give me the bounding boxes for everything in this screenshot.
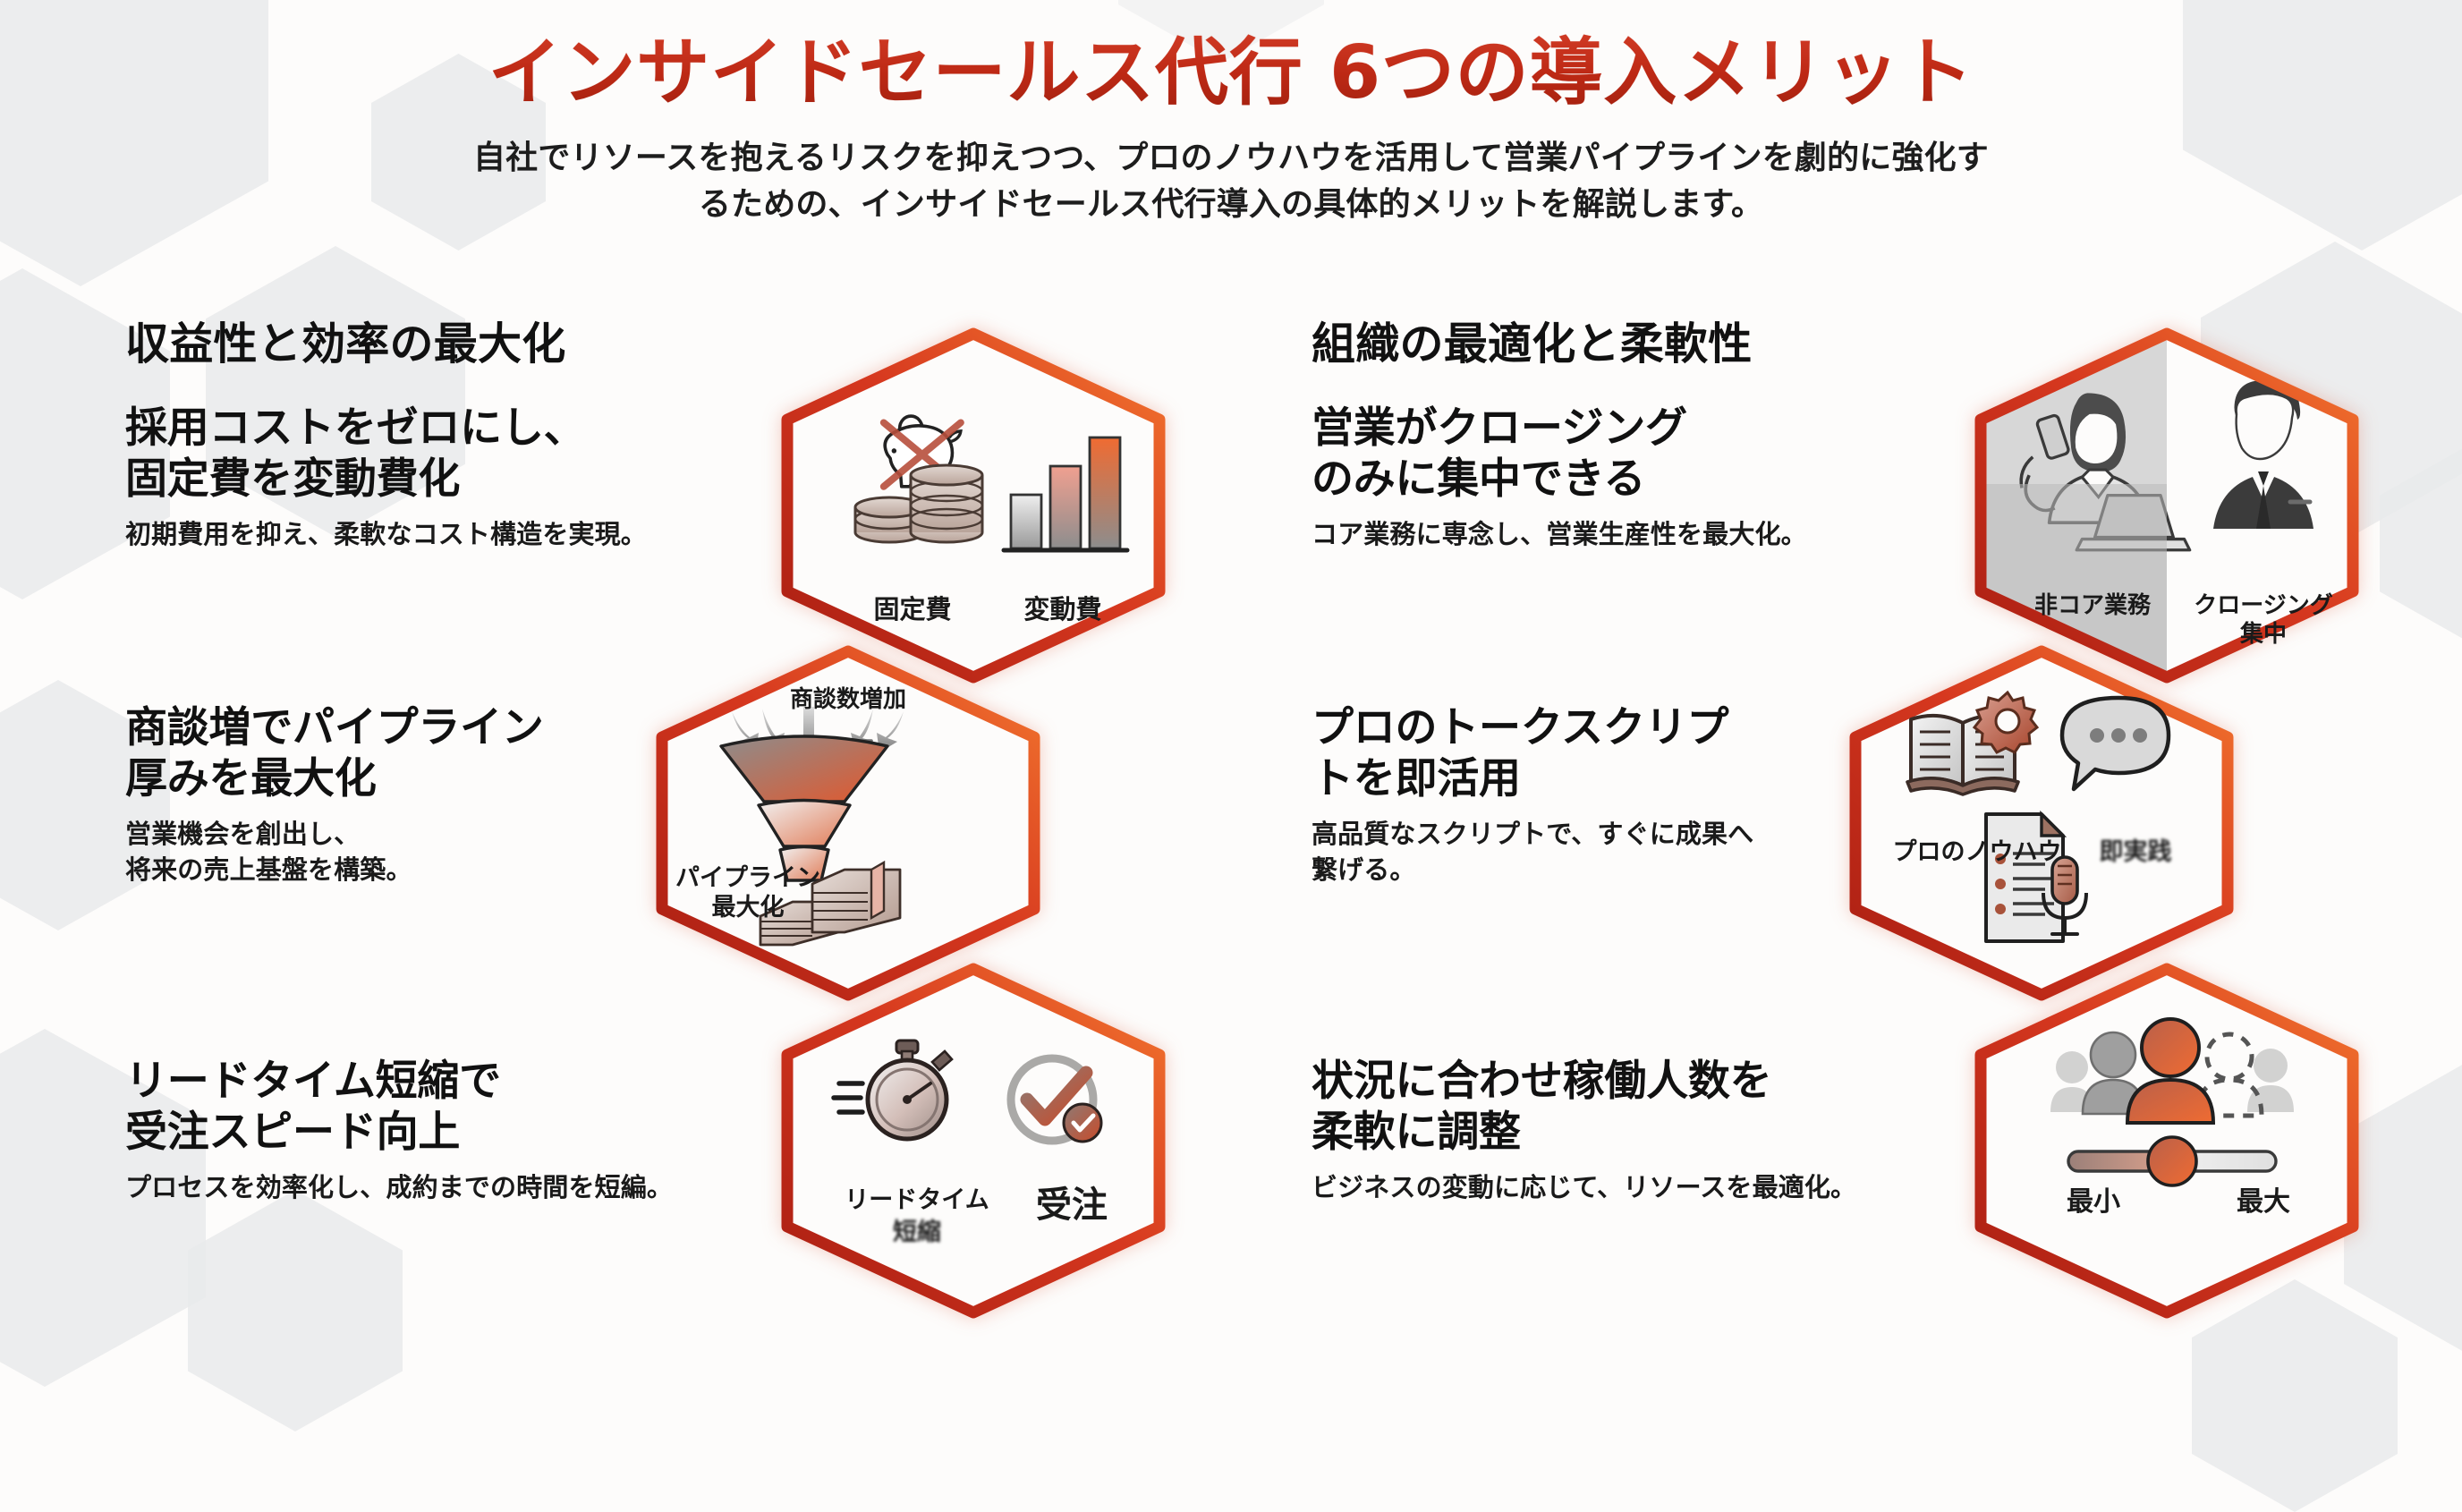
right-column: 組織の最適化と柔軟性 営業がクロージング のみに集中できる コア業務に専念し、営…: [1231, 309, 2462, 1364]
roles-hexagon[interactable]: 非コア業務 クロージング 集中: [1970, 327, 2364, 684]
left-block-2-title-line-1: 商談増でパイプライン: [125, 702, 743, 753]
leadtime-hexagon[interactable]: リードタイム 短縮 受注: [777, 962, 1170, 1320]
left-block-1-desc-line-1: 初期費用を抑え、柔軟なコスト構造を実現。: [125, 517, 716, 551]
right-block-3-title-line-1: 状況に合わせ稼働人数を: [1312, 1056, 1956, 1107]
script-hexagon-label-knowhow: プロのノウハウ: [1870, 839, 2084, 866]
page-title: インサイドセールス代行 6つの導入メリット: [0, 34, 2462, 114]
right-block-3-desc-line-1: ビジネスの変動に応じて、リソースを最適化。: [1312, 1170, 1956, 1204]
script-hexagon[interactable]: プロのノウハウ 即実践: [1845, 644, 2238, 1002]
pipeline-hexagon-label-mid2: 最大化: [667, 895, 828, 922]
pipeline-hexagon[interactable]: 商談数増加 パイプライン 最大化: [651, 644, 1045, 1002]
left-block-2-desc-line-2: 将来の売上基盤を構築。: [125, 853, 743, 887]
left-block-1: 採用コストをゼロにし、 固定費を変動費化 初期費用を抑え、柔軟なコスト構造を実現…: [125, 403, 716, 551]
right-block-2-desc-line-1: 高品質なスクリプトで、すぐに成果へ: [1312, 817, 1884, 851]
cost-hexagon[interactable]: 固定費 変動費: [777, 327, 1170, 684]
right-block-2-desc-line-2: 繋げる。: [1312, 853, 1884, 887]
right-block-3-title-line-2: 柔軟に調整: [1312, 1107, 1956, 1158]
script-hexagon-label-practice: 即実践: [2068, 839, 2203, 866]
left-block-3: リードタイム短縮で 受注スピード向上 プロセスを効率化し、成約までの時間を短編。: [125, 1056, 751, 1204]
left-block-1-title-line-2: 固定費を変動費化: [125, 454, 716, 505]
infographic-page: インサイドセールス代行 6つの導入メリット 自社でリソースを抱えるリスクを抑えつ…: [0, 0, 2462, 1374]
right-block-2-title-line-2: トを即活用: [1312, 753, 1884, 804]
scaling-hexagon[interactable]: 最小 最大: [1970, 962, 2364, 1320]
page-subtitle: 自社でリソースを抱えるリスクを抑えつつ、プロのノウハウを活用して営業パイプライン…: [386, 135, 2076, 228]
cost-hexagon-label-variable: 変動費: [991, 595, 1134, 624]
subtitle-line-2: るための、インサイドセールス代行導入の具体的メリットを解説します。: [386, 182, 2076, 228]
right-section-heading: 組織の最適化と柔軟性: [1312, 309, 1752, 372]
content-columns: 収益性と効率の最大化 採用コストをゼロにし、 固定費を変動費化 初期費用を抑え、…: [0, 309, 2462, 1364]
right-block-3: 状況に合わせ稼働人数を 柔軟に調整 ビジネスの変動に応じて、リソースを最適化。: [1312, 1056, 1956, 1204]
left-column: 収益性と効率の最大化 採用コストをゼロにし、 固定費を変動費化 初期費用を抑え、…: [0, 309, 1231, 1364]
left-block-3-title-line-2: 受注スピード向上: [125, 1107, 751, 1158]
cost-hexagon-label-fixed: 固定費: [841, 595, 984, 624]
leadtime-hexagon-label-order: 受注: [1000, 1185, 1143, 1226]
leadtime-hexagon-label-1: リードタイム: [814, 1187, 1020, 1214]
pipeline-hexagon-label-top: 商談数増加: [759, 687, 938, 713]
left-block-3-title-line-1: リードタイム短縮で: [125, 1056, 751, 1107]
roles-hexagon-label-noncore: 非コア業務: [2008, 593, 2178, 619]
leadtime-hexagon-label-2: 短縮: [814, 1219, 1020, 1246]
pipeline-hexagon-label-mid: パイプライン: [667, 865, 828, 892]
left-block-3-desc-line-1: プロセスを効率化し、成約までの時間を短編。: [125, 1170, 751, 1204]
scaling-hexagon-label-min: 最小: [2040, 1187, 2147, 1218]
left-block-2: 商談増でパイプライン 厚みを最大化 営業機会を創出し、 将来の売上基盤を構築。: [125, 702, 743, 887]
left-block-1-title-line-1: 採用コストをゼロにし、: [125, 403, 716, 454]
right-block-1-desc-line-1: コア業務に専念し、営業生産性を最大化。: [1312, 517, 1902, 551]
right-block-1: 営業がクロージング のみに集中できる コア業務に専念し、営業生産性を最大化。: [1312, 403, 1902, 551]
subtitle-line-1: 自社でリソースを抱えるリスクを抑えつつ、プロのノウハウを活用して営業パイプライン…: [386, 135, 2076, 182]
header: インサイドセールス代行 6つの導入メリット 自社でリソースを抱えるリスクを抑えつ…: [0, 0, 2462, 228]
scaling-hexagon-label-max: 最大: [2210, 1187, 2317, 1218]
right-block-1-title-line-2: のみに集中できる: [1312, 454, 1902, 505]
left-section-heading: 収益性と効率の最大化: [125, 309, 565, 372]
right-block-2: プロのトークスクリプ トを即活用 高品質なスクリプトで、すぐに成果へ 繋げる。: [1312, 702, 1884, 887]
roles-hexagon-label-closing: クロージング: [2174, 593, 2353, 619]
right-block-1-title-line-1: 営業がクロージング: [1312, 403, 1902, 454]
left-block-2-title-line-2: 厚みを最大化: [125, 753, 743, 804]
left-block-2-desc-line-1: 営業機会を創出し、: [125, 817, 743, 851]
right-block-2-title-line-1: プロのトークスクリプ: [1312, 702, 1884, 753]
